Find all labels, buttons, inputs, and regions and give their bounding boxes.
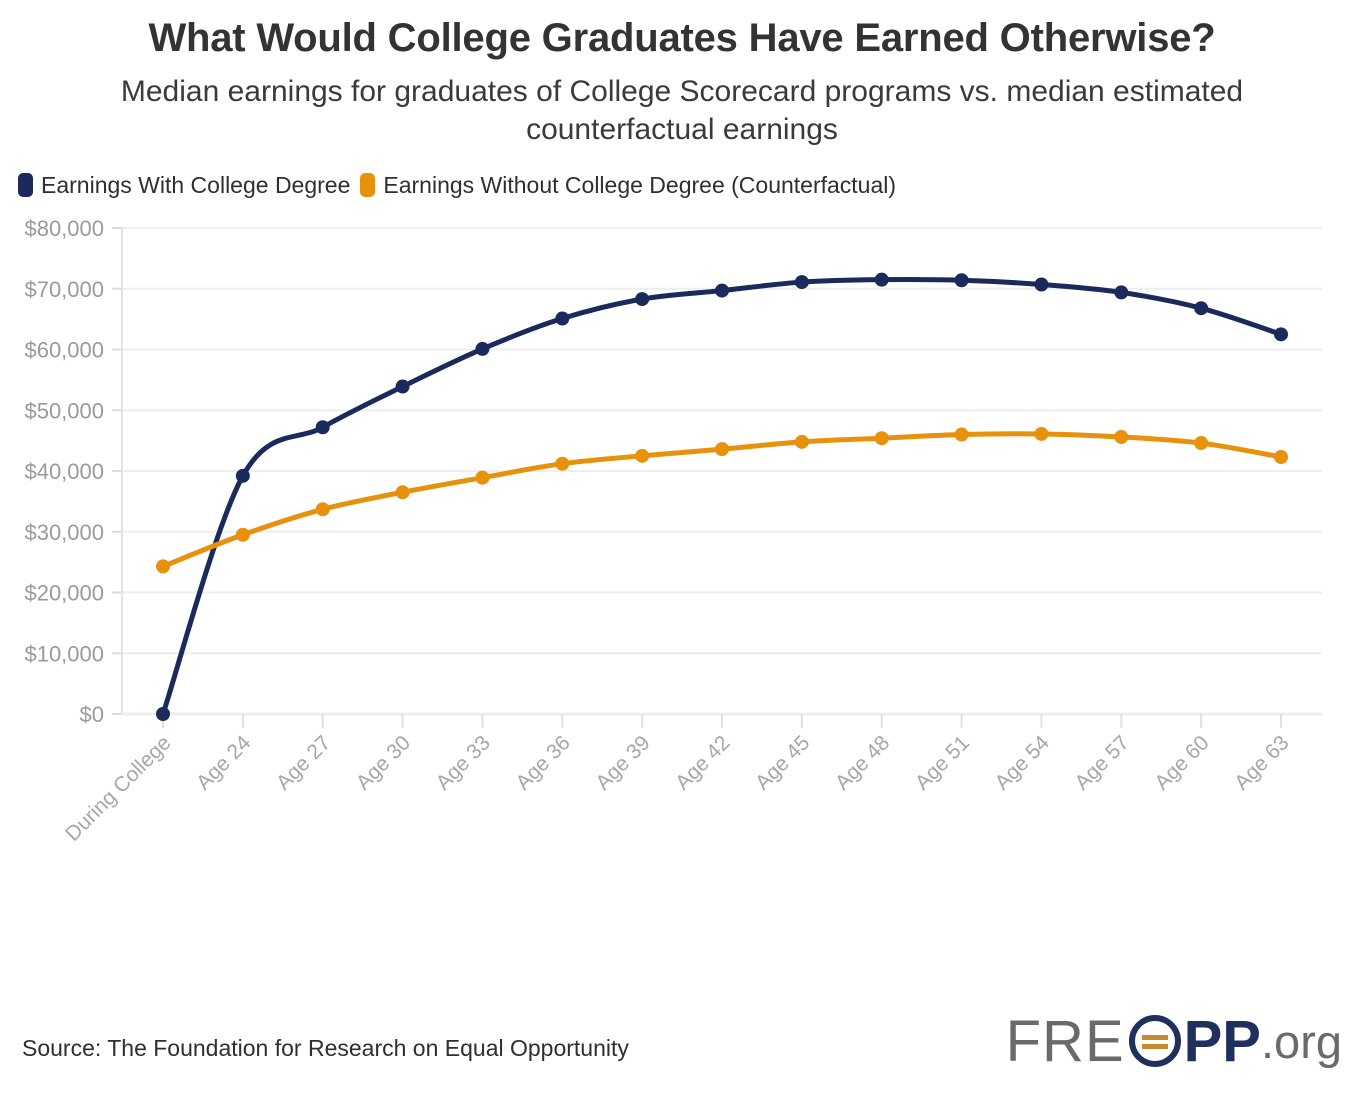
y-axis-tick-label: $70,000 (24, 277, 104, 302)
y-axis-tick-label: $0 (80, 702, 104, 727)
data-point-marker[interactable] (1194, 436, 1208, 450)
data-point-marker[interactable] (715, 284, 729, 298)
legend-swatch-icon-with-degree (18, 173, 33, 197)
data-point-marker[interactable] (316, 503, 330, 517)
chart-header: What Would College Graduates Have Earned… (0, 0, 1364, 148)
y-axis-tick-label: $40,000 (24, 459, 104, 484)
x-axis-tick-label: Age 42 (671, 732, 734, 795)
data-point-marker[interactable] (875, 432, 889, 446)
x-axis-tick-label: Age 51 (911, 732, 974, 795)
y-axis-tick-label: $60,000 (24, 338, 104, 363)
logo-text-fre: FRE (1006, 1008, 1125, 1075)
data-point-marker[interactable] (1194, 302, 1208, 316)
data-point-marker[interactable] (635, 449, 649, 463)
x-axis-tick-label: During College (61, 732, 175, 846)
x-axis-tick-label: Age 48 (831, 732, 894, 795)
data-point-marker[interactable] (795, 435, 809, 449)
chart-plot-area: $80,000$70,000$60,000$50,000$40,000$30,0… (0, 206, 1364, 896)
data-point-marker[interactable] (635, 292, 649, 306)
x-axis-tick-label: Age 27 (272, 732, 335, 795)
data-point-marker[interactable] (1034, 427, 1048, 441)
data-point-marker[interactable] (236, 469, 250, 483)
x-axis-tick-label: Age 33 (432, 732, 495, 795)
chart-legend: Earnings With College Degree Earnings Wi… (0, 170, 1364, 200)
data-point-marker[interactable] (715, 443, 729, 457)
chart-footer: Source: The Foundation for Research on E… (0, 986, 1364, 1096)
data-point-marker[interactable] (1034, 278, 1048, 292)
x-axis-tick-label: Age 57 (1070, 732, 1133, 795)
data-point-marker[interactable] (396, 486, 410, 500)
x-axis-tick-label: Age 24 (192, 731, 256, 795)
data-point-marker[interactable] (156, 707, 170, 721)
chart-subtitle: Median earnings for graduates of College… (17, 73, 1347, 149)
legend-label-without-degree: Earnings Without College Degree (Counter… (383, 172, 896, 199)
x-axis-tick-label: Age 45 (751, 732, 814, 795)
x-axis-tick-label: Age 54 (991, 731, 1055, 795)
data-point-marker[interactable] (316, 421, 330, 435)
data-point-marker[interactable] (955, 274, 969, 288)
line-chart-svg: $80,000$70,000$60,000$50,000$40,000$30,0… (0, 206, 1364, 896)
series-without-degree (156, 427, 1288, 573)
data-point-marker[interactable] (795, 275, 809, 289)
page-title: What Would College Graduates Have Earned… (82, 14, 1282, 63)
x-axis-tick-label: Age 30 (352, 732, 415, 795)
legend-item-without-degree[interactable]: Earnings Without College Degree (Counter… (360, 172, 896, 199)
y-axis-tick-label: $80,000 (24, 216, 104, 241)
data-point-marker[interactable] (475, 471, 489, 485)
data-point-marker[interactable] (875, 273, 889, 287)
logo-text-org: .org (1261, 1014, 1342, 1069)
legend-label-with-degree: Earnings With College Degree (41, 172, 350, 199)
x-axis-tick-label: Age 39 (591, 732, 654, 795)
x-axis-tick-label: Age 60 (1150, 732, 1213, 795)
logo-text-pp: PP (1184, 1008, 1261, 1075)
y-axis-tick-label: $30,000 (24, 520, 104, 545)
legend-swatch-icon-without-degree (360, 173, 375, 197)
legend-item-with-degree[interactable]: Earnings With College Degree (18, 172, 350, 199)
data-point-marker[interactable] (396, 380, 410, 394)
source-note: Source: The Foundation for Research on E… (22, 1035, 629, 1062)
freopp-logo[interactable]: FRE PP .org (1006, 1010, 1342, 1072)
data-point-marker[interactable] (555, 312, 569, 326)
data-point-marker[interactable] (475, 342, 489, 356)
data-point-marker[interactable] (1114, 286, 1128, 300)
data-point-marker[interactable] (955, 428, 969, 442)
data-point-marker[interactable] (555, 457, 569, 471)
series-line (163, 280, 1281, 715)
chart-page: What Would College Graduates Have Earned… (0, 0, 1364, 1096)
data-point-marker[interactable] (1274, 450, 1288, 464)
y-axis-tick-label: $20,000 (24, 581, 104, 606)
data-point-marker[interactable] (1274, 328, 1288, 342)
x-axis-tick-label: Age 63 (1230, 732, 1293, 795)
data-point-marker[interactable] (1114, 430, 1128, 444)
x-axis-tick-label: Age 36 (511, 732, 574, 795)
logo-equals-ring-icon (1127, 1013, 1183, 1069)
data-point-marker[interactable] (236, 528, 250, 542)
y-axis-tick-label: $10,000 (24, 642, 104, 667)
data-point-marker[interactable] (156, 560, 170, 574)
y-axis-tick-label: $50,000 (24, 399, 104, 424)
